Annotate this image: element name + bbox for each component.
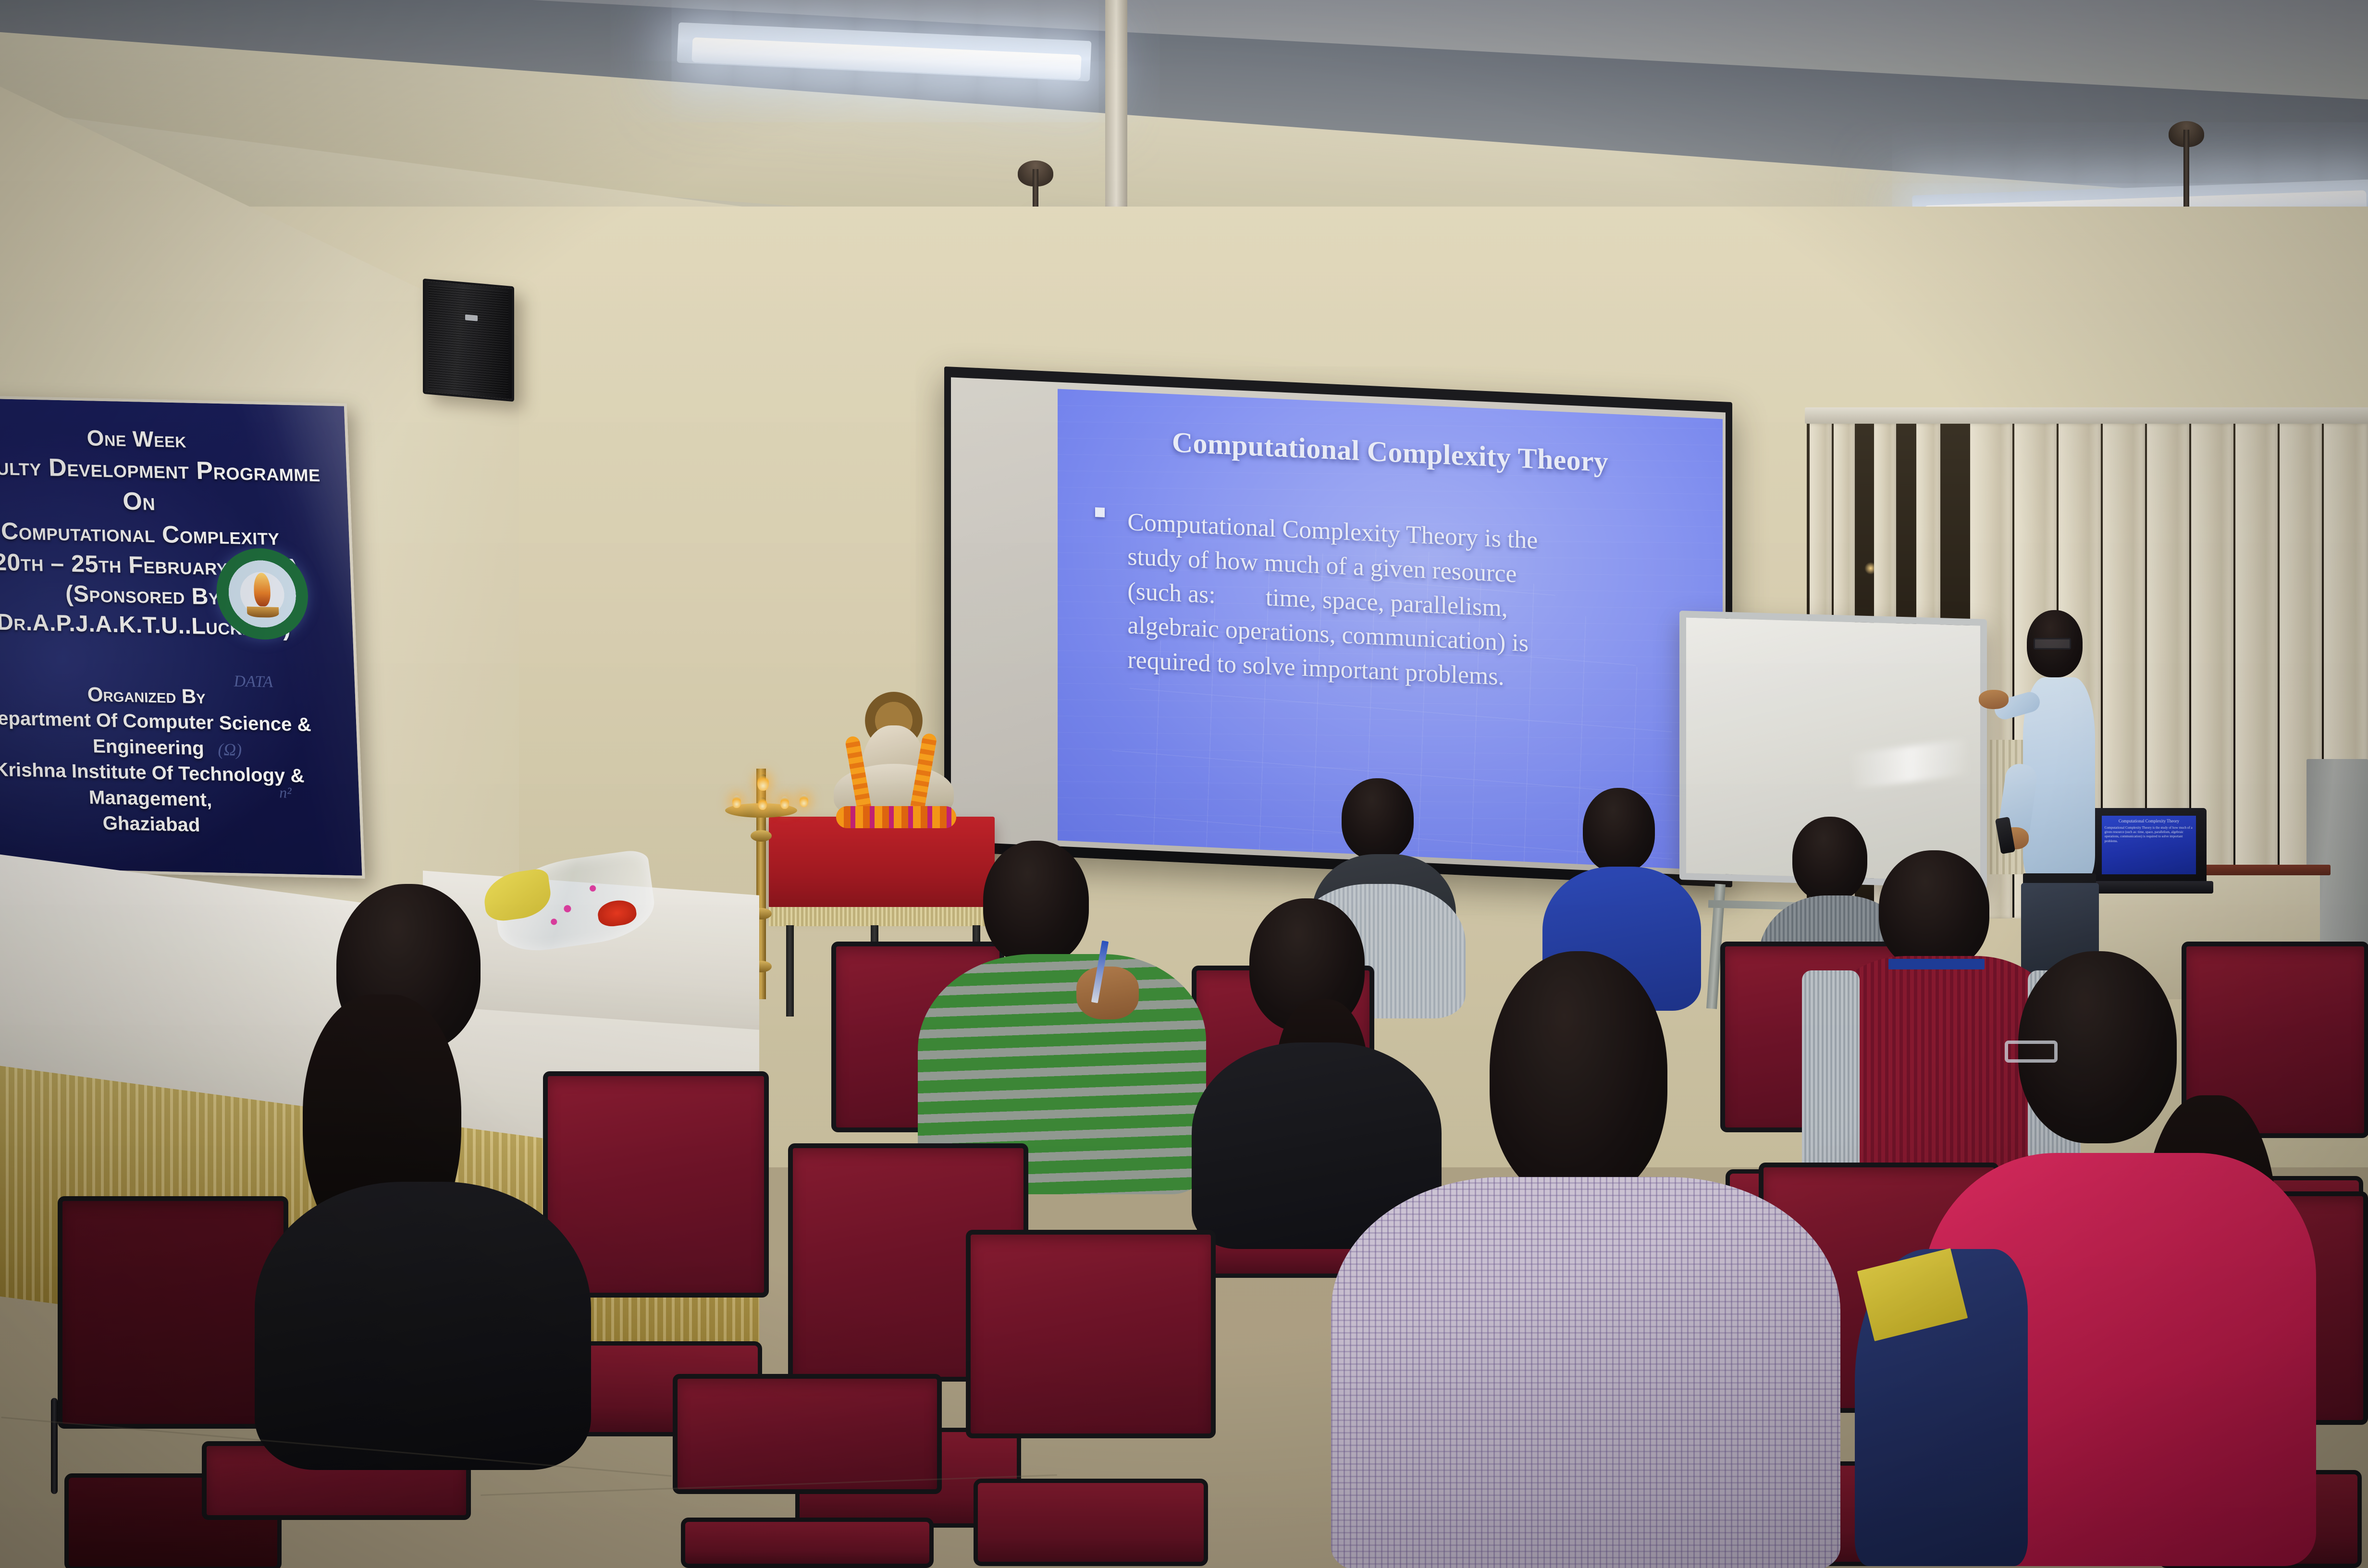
chair-back [966, 1230, 1216, 1438]
diya-flame [800, 795, 808, 807]
chair-armrest [51, 1398, 58, 1494]
saraswati-idol [826, 692, 961, 821]
slide-body-text: Computational Complexity Theory is the s… [1127, 505, 1690, 703]
speaker-badge [465, 314, 478, 321]
chair-seat [681, 1518, 934, 1568]
seminar-hall-photo: One Week Faculty Development Programme O… [0, 0, 2368, 1568]
slide-bullet-marker [1095, 507, 1105, 517]
speaker-grille [429, 285, 508, 396]
blinds-head-rail[interactable] [1805, 407, 2368, 424]
banner-organizer-block: Organized By Department Of Computer Scie… [0, 678, 361, 842]
diya-lamp-top-flame [757, 774, 769, 791]
diya-flame [732, 796, 741, 808]
banner-department: Department Of Computer Science & Enginee… [0, 705, 347, 764]
presenter-glasses [2034, 638, 2071, 649]
audience-torso [255, 1182, 591, 1470]
audience-head [1490, 951, 1667, 1201]
chair[interactable] [966, 1230, 1216, 1566]
whiteboard-glare [1849, 739, 1970, 789]
chair-back [673, 1374, 942, 1494]
slide-title: Computational Complexity Theory [1058, 420, 1723, 484]
fdp-banner: One Week Faculty Development Programme O… [0, 394, 365, 879]
audience-head [983, 841, 1089, 965]
wall-speaker [423, 279, 514, 402]
chair[interactable] [673, 1374, 942, 1568]
banner-institute: Krishna Institute Of Technology & Manage… [0, 756, 349, 816]
audience-glasses [2005, 1041, 2058, 1063]
audience-woman-pink-navy-jacket [1874, 951, 2368, 1568]
shrine-table-leg [786, 925, 794, 1017]
audience-head [1583, 788, 1655, 872]
lamp-flame-icon [253, 573, 271, 607]
projector-mount-pole [1105, 0, 1127, 207]
presenter-open-palm [1979, 690, 2009, 709]
chair-seat [974, 1479, 1209, 1566]
diya-knob [751, 830, 772, 842]
banner-line-2: Faculty Development Programme On [0, 449, 340, 523]
audience-hand-holding-pen [1076, 967, 1139, 1019]
diya-flame [780, 796, 789, 809]
audience-torso [1331, 1177, 1840, 1568]
marigold-flower-bed [836, 806, 956, 828]
audience-woman-black-top-front-left [202, 884, 596, 1460]
audience-man-lilac-check-shirt [1331, 951, 1840, 1568]
lamp-base-icon [247, 607, 279, 618]
blind-slat[interactable] [2235, 424, 2278, 919]
audience-man-green-striped-sweater [918, 841, 1206, 1187]
diya-flame [758, 797, 767, 810]
